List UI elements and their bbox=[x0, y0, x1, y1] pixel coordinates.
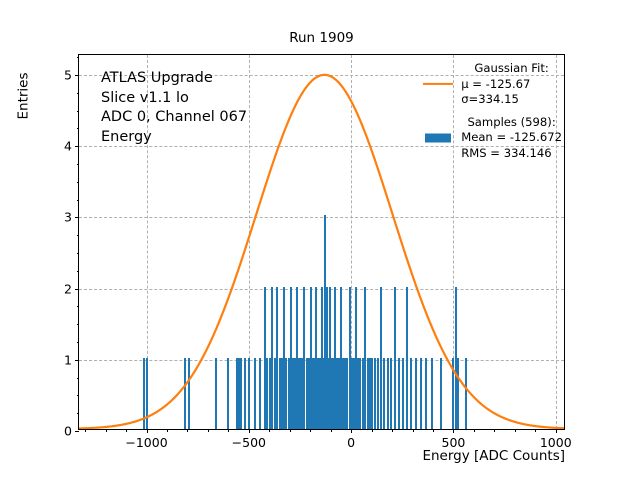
y-tick-minor bbox=[77, 200, 80, 201]
y-tick-major bbox=[75, 360, 79, 361]
x-tick-minor bbox=[392, 429, 393, 432]
y-tick-major bbox=[75, 289, 79, 290]
legend-line-swatch-icon bbox=[423, 77, 453, 91]
x-tick-minor bbox=[167, 429, 168, 432]
legend-entry-gaussian-fit: μ = -125.67 bbox=[423, 77, 562, 93]
legend-spacer bbox=[423, 108, 562, 115]
x-tick-minor bbox=[106, 429, 107, 432]
y-tick-label: 2 bbox=[64, 281, 72, 296]
x-tick-major bbox=[556, 429, 557, 433]
y-tick-minor bbox=[77, 271, 80, 272]
y-axis-label: Entries bbox=[16, 54, 32, 430]
y-tick-minor bbox=[77, 111, 80, 112]
page-title: Run 1909 bbox=[78, 30, 565, 46]
y-tick-minor bbox=[77, 378, 80, 379]
y-tick-major bbox=[75, 431, 79, 432]
legend-samples-mean: Mean = -125.672 bbox=[461, 130, 562, 146]
x-tick-minor bbox=[208, 429, 209, 432]
y-tick-minor bbox=[77, 413, 80, 414]
x-tick-minor bbox=[228, 429, 229, 432]
legend-fit-heading: Gaussian Fit: bbox=[423, 61, 562, 77]
x-tick-major bbox=[249, 429, 250, 433]
legend-entry-samples: Mean = -125.672 bbox=[423, 130, 562, 146]
y-tick-minor bbox=[77, 57, 80, 58]
legend-group-fit: Gaussian Fit: μ = -125.67 σ=334.15 bbox=[423, 61, 562, 108]
y-tick-minor bbox=[77, 164, 80, 165]
legend-samples-rms: RMS = 334.146 bbox=[423, 146, 562, 162]
x-tick-minor bbox=[433, 429, 434, 432]
chart-legend: Gaussian Fit: μ = -125.67 σ=334.15 Sampl… bbox=[423, 61, 562, 161]
y-tick-minor bbox=[77, 395, 80, 396]
legend-bar-swatch-icon bbox=[423, 131, 453, 145]
plot-area: ATLAS Upgrade Slice v1.1 lo ADC 0, Chann… bbox=[79, 55, 564, 429]
y-tick-major bbox=[75, 75, 79, 76]
y-tick-minor bbox=[77, 253, 80, 254]
y-tick-major bbox=[75, 217, 79, 218]
plot-axes: ATLAS Upgrade Slice v1.1 lo ADC 0, Chann… bbox=[78, 54, 565, 430]
x-tick-label: 0 bbox=[347, 435, 355, 450]
x-tick-label: −500 bbox=[232, 435, 266, 450]
legend-fit-sigma: σ=334.15 bbox=[423, 92, 562, 108]
y-tick-minor bbox=[77, 235, 80, 236]
plot-annotation: ATLAS Upgrade Slice v1.1 lo ADC 0, Chann… bbox=[101, 69, 247, 147]
y-tick-label: 3 bbox=[64, 210, 72, 225]
legend-group-samples: Samples (598): Mean = -125.672 RMS = 334… bbox=[423, 115, 562, 162]
x-tick-minor bbox=[310, 429, 311, 432]
x-tick-minor bbox=[269, 429, 270, 432]
x-tick-minor bbox=[85, 429, 86, 432]
y-tick-major bbox=[75, 146, 79, 147]
legend-fit-mu: μ = -125.67 bbox=[461, 77, 530, 93]
y-tick-label: 4 bbox=[64, 139, 72, 154]
x-tick-major bbox=[351, 429, 352, 433]
x-tick-minor bbox=[290, 429, 291, 432]
y-tick-label: 1 bbox=[64, 352, 72, 367]
x-tick-minor bbox=[535, 429, 536, 432]
y-tick-minor bbox=[77, 182, 80, 183]
x-tick-label: 500 bbox=[442, 435, 466, 450]
x-tick-minor bbox=[331, 429, 332, 432]
y-tick-minor bbox=[77, 128, 80, 129]
x-tick-major bbox=[453, 429, 454, 433]
legend-samples-heading: Samples (598): bbox=[423, 115, 562, 131]
y-tick-minor bbox=[77, 324, 80, 325]
y-tick-minor bbox=[77, 306, 80, 307]
x-tick-major bbox=[147, 429, 148, 433]
x-tick-minor bbox=[372, 429, 373, 432]
x-tick-label: −1000 bbox=[125, 435, 167, 450]
x-tick-minor bbox=[474, 429, 475, 432]
x-tick-minor bbox=[494, 429, 495, 432]
x-tick-minor bbox=[515, 429, 516, 432]
x-tick-label: 1000 bbox=[540, 435, 572, 450]
y-tick-label: 5 bbox=[64, 67, 72, 82]
y-tick-minor bbox=[77, 342, 80, 343]
y-tick-label: 0 bbox=[64, 424, 72, 439]
y-axis-label-text: Entries bbox=[16, 72, 32, 119]
y-tick-minor bbox=[77, 93, 80, 94]
figure-canvas: Run 1909 Entries Energy [ADC Counts] ATL… bbox=[0, 0, 640, 480]
x-tick-minor bbox=[126, 429, 127, 432]
x-axis-label: Energy [ADC Counts] bbox=[78, 448, 565, 464]
x-tick-minor bbox=[187, 429, 188, 432]
x-tick-minor bbox=[413, 429, 414, 432]
